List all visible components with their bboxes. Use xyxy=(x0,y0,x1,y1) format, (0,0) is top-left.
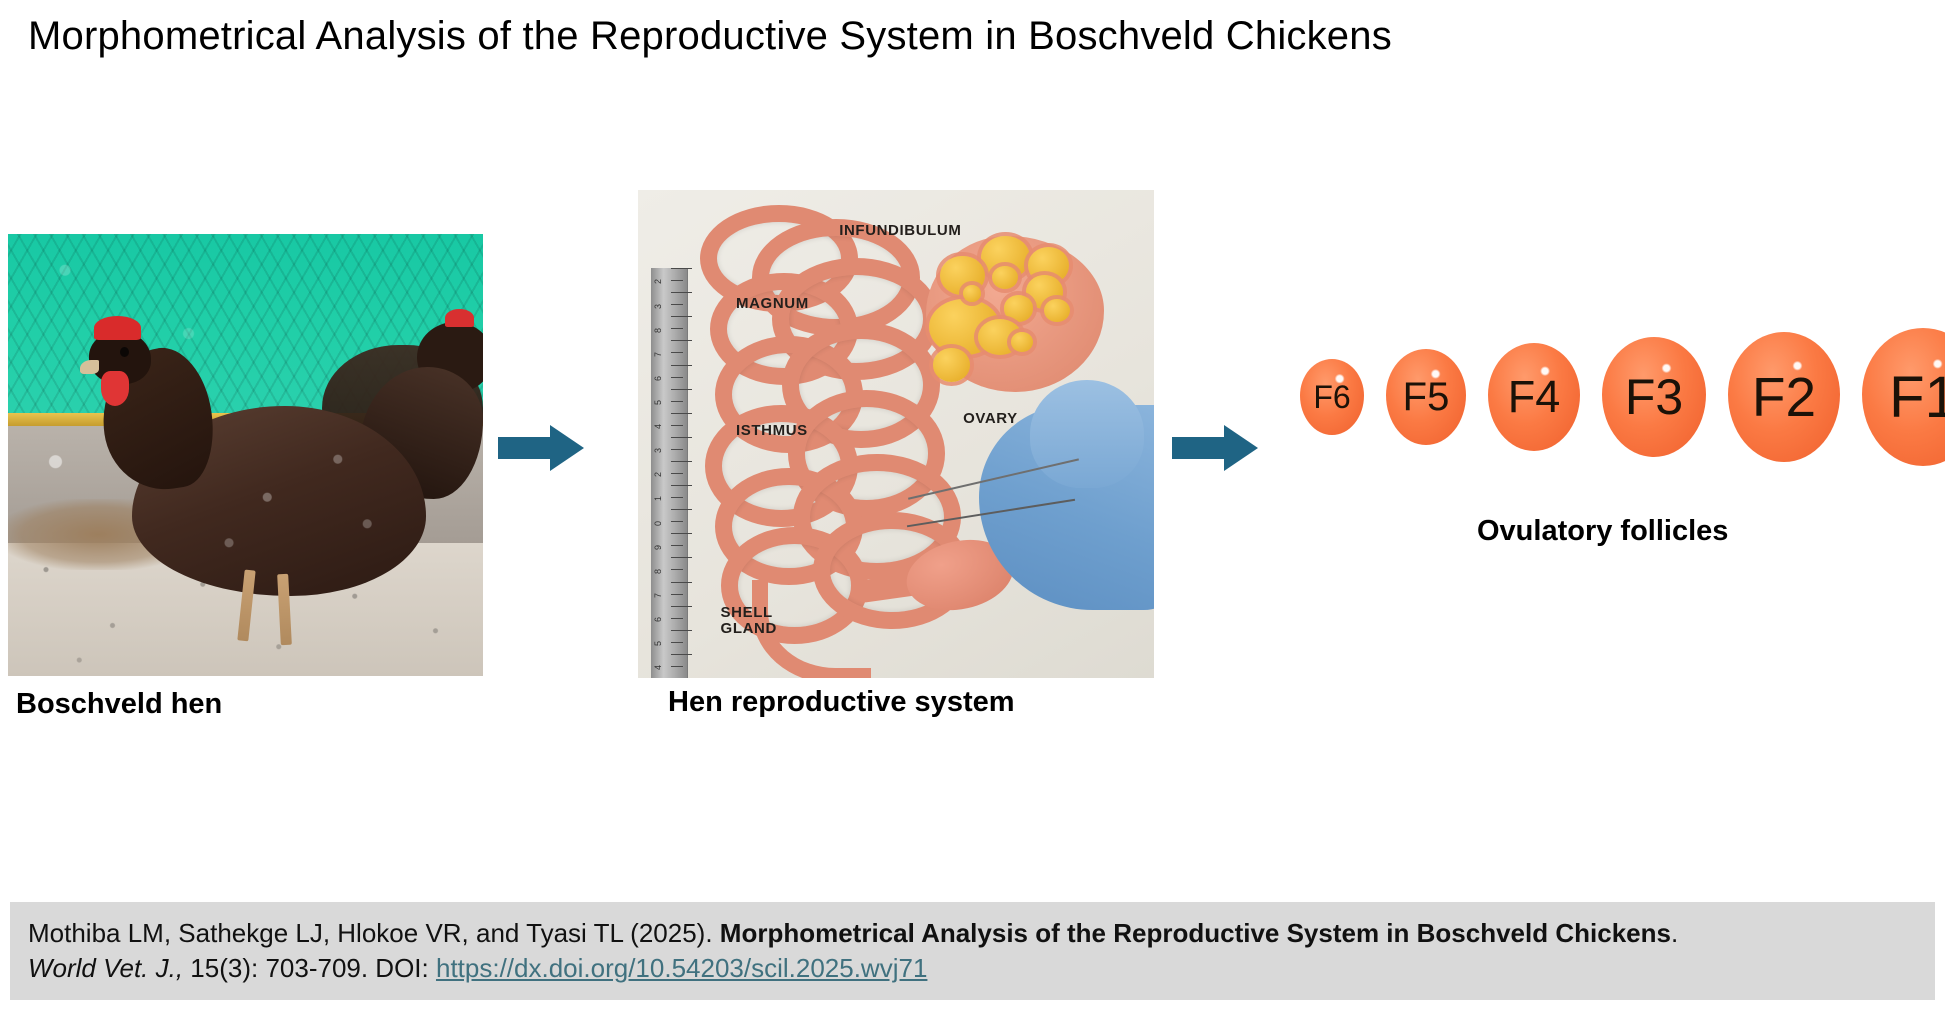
follicle-f1: F1 xyxy=(1862,328,1945,466)
arrow-head xyxy=(550,425,584,471)
ruler-tick xyxy=(671,292,693,293)
ruler-tick xyxy=(671,569,684,570)
ruler-number: 6 xyxy=(653,617,663,622)
ruler-tick xyxy=(671,630,693,631)
ruler-number: 3 xyxy=(653,304,663,309)
label-infundibulum: INFUNDIBULUM xyxy=(839,222,961,239)
doi-link[interactable]: https://dx.doi.org/10.54203/scil.2025.wv… xyxy=(436,953,927,983)
ruler-number: 2 xyxy=(653,279,663,284)
flow-arrow-icon-2 xyxy=(1172,425,1262,471)
ruler-tick xyxy=(671,316,693,317)
ruler-number: 9 xyxy=(653,545,663,550)
label-shell-gland-line2: GLAND xyxy=(721,621,777,637)
ovulatory-follicle-series: F6F5F4F3F2F1 xyxy=(1300,332,1920,462)
ruler-tick xyxy=(671,509,693,510)
ruler-tick xyxy=(671,352,684,353)
ruler-number: 3 xyxy=(653,448,663,453)
ruler-number: 5 xyxy=(653,641,663,646)
ruler-tick xyxy=(671,485,693,486)
ruler-number: 4 xyxy=(653,424,663,429)
ruler-number: 8 xyxy=(653,569,663,574)
citation-line-2: World Vet. J., 15(3): 703-709. DOI: http… xyxy=(28,951,1935,986)
ruler-tick xyxy=(671,304,684,305)
label-isthmus: ISTHMUS xyxy=(736,422,808,439)
ovarian-follicle xyxy=(963,285,982,302)
ruler-number: 4 xyxy=(653,665,663,670)
boschveld-hen-photo xyxy=(8,234,483,676)
hen-comb xyxy=(94,316,142,340)
ovary-follicle-cluster xyxy=(922,229,1108,395)
arrow-shaft xyxy=(498,437,554,459)
follicle-f2: F2 xyxy=(1728,332,1840,462)
follicle-f6: F6 xyxy=(1300,359,1364,435)
ruler-tick xyxy=(671,557,693,558)
ovarian-follicle xyxy=(933,348,970,381)
citation-line-1: Mothiba LM, Sathekge LJ, Hlokoe VR, and … xyxy=(28,916,1935,951)
ruler-tick xyxy=(671,413,693,414)
ruler-number: 1 xyxy=(653,496,663,501)
ruler-tick xyxy=(671,654,693,655)
arrow-shaft xyxy=(1172,437,1228,459)
ruler-tick xyxy=(671,582,693,583)
hen-reproductive-system-photo: 23876543210987654 INFUNDIBULUM MAGNUM IS… xyxy=(638,190,1154,678)
follicle-label: F2 xyxy=(1752,365,1816,429)
follicle-label: F6 xyxy=(1313,379,1350,416)
ruler-tick xyxy=(671,521,684,522)
citation-bar: Mothiba LM, Sathekge LJ, Hlokoe VR, and … xyxy=(10,902,1935,1000)
hen-beak xyxy=(80,360,99,374)
hen-photo-caption: Boschveld hen xyxy=(16,688,222,721)
follicle-label: F3 xyxy=(1625,368,1683,426)
ruler-number: 6 xyxy=(653,376,663,381)
ruler-number: 8 xyxy=(653,328,663,333)
ruler-number: 0 xyxy=(653,521,663,526)
ruler-tick xyxy=(671,377,684,378)
follicle-f4: F4 xyxy=(1488,343,1580,451)
ruler-tick xyxy=(671,497,684,498)
citation-period: . xyxy=(1671,918,1678,948)
ruler-tick xyxy=(671,461,693,462)
ruler-tick xyxy=(671,425,684,426)
label-shell-gland: SHELL GLAND xyxy=(721,605,777,637)
ruler-tick xyxy=(671,389,693,390)
ovarian-follicle xyxy=(992,266,1018,289)
ruler-tick xyxy=(671,545,684,546)
ruler-tick xyxy=(671,268,693,269)
follicle-label: F4 xyxy=(1508,371,1561,423)
ruler-number: 2 xyxy=(653,472,663,477)
ruler-tick xyxy=(671,666,684,667)
steel-ruler: 23876543210987654 xyxy=(651,268,688,678)
ruler-tick xyxy=(671,401,684,402)
ruler-number: 7 xyxy=(653,352,663,357)
citation-article-title: Morphometrical Analysis of the Reproduct… xyxy=(720,918,1671,948)
ovarian-follicle xyxy=(1004,295,1034,322)
background-hen-comb xyxy=(445,309,474,327)
ruler-number: 5 xyxy=(653,400,663,405)
ruler-number: 7 xyxy=(653,593,663,598)
ruler-tick xyxy=(671,642,684,643)
ruler-tick xyxy=(671,280,684,281)
citation-authors-year: Mothiba LM, Sathekge LJ, Hlokoe VR, and … xyxy=(28,918,720,948)
ovarian-follicle xyxy=(1011,332,1033,352)
label-shell-gland-line1: SHELL xyxy=(721,605,777,621)
citation-volume-pages: 15(3): 703-709. DOI: xyxy=(183,953,436,983)
citation-journal: World Vet. J., xyxy=(28,953,183,983)
ruler-tick xyxy=(671,437,693,438)
gloved-fingers xyxy=(1030,380,1144,487)
follicle-label: F1 xyxy=(1889,364,1945,431)
ruler-tick xyxy=(671,365,693,366)
label-ovary: OVARY xyxy=(963,410,1018,427)
follicle-label: F5 xyxy=(1403,375,1450,420)
ruler-tick xyxy=(671,340,693,341)
repro-photo-caption: Hen reproductive system xyxy=(668,686,1015,719)
ruler-tick xyxy=(671,606,693,607)
ruler-tick xyxy=(671,473,684,474)
ruler-tick xyxy=(671,328,684,329)
ruler-tick xyxy=(671,533,693,534)
ruler-tick xyxy=(671,594,684,595)
arrow-head xyxy=(1224,425,1258,471)
follicle-f5: F5 xyxy=(1386,349,1466,445)
follicle-f3: F3 xyxy=(1602,337,1706,457)
page-title: Morphometrical Analysis of the Reproduct… xyxy=(28,14,1392,59)
label-magnum: MAGNUM xyxy=(736,295,809,312)
flow-arrow-icon-1 xyxy=(498,425,588,471)
ruler-tick xyxy=(671,449,684,450)
ruler-tick xyxy=(671,618,684,619)
follicles-caption: Ovulatory follicles xyxy=(1477,515,1728,548)
